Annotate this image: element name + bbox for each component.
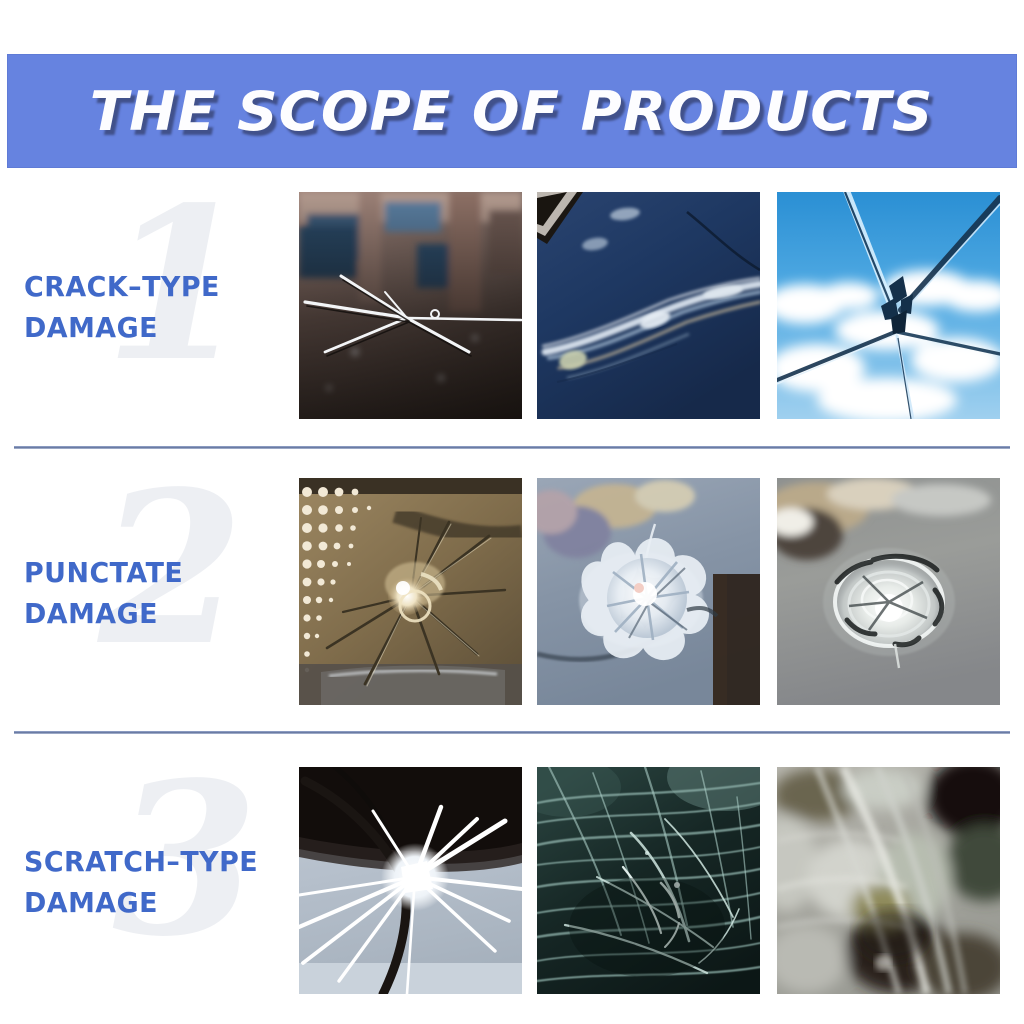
section-divider-2 — [14, 731, 1010, 734]
photo-grid-row-1 — [299, 192, 1019, 424]
section-label-line-1: SCRATCH–TYPE — [24, 842, 283, 883]
photo-tile-crack-long-line[interactable] — [537, 192, 760, 419]
section-label-line-1: CRACK–TYPE — [24, 267, 283, 308]
scratch-blur-illustration — [777, 767, 1000, 994]
section-label-line-2: DAMAGE — [24, 594, 283, 635]
punctate-star-brown-illustration — [299, 478, 522, 705]
section-label-line-2: DAMAGE — [24, 883, 283, 924]
scratch-star-illustration — [299, 767, 522, 994]
photo-tile-punctate-rosette[interactable] — [537, 478, 760, 705]
photo-grid-row-2 — [299, 478, 1019, 710]
photo-tile-punctate-star-brown[interactable] — [299, 478, 522, 705]
photo-tile-scratch-star[interactable] — [299, 767, 522, 994]
crack-sky-illustration — [777, 192, 1000, 419]
photo-tile-punctate-bullseye[interactable] — [777, 478, 1000, 705]
crack-long-line-illustration — [537, 192, 760, 419]
header-banner: THE SCOPE OF PRODUCTS — [8, 55, 1016, 167]
page-title: THE SCOPE OF PRODUCTS — [90, 80, 934, 143]
section-row-punctate: 2 PUNCTATE DAMAGE — [0, 478, 1024, 710]
photo-tile-crack-building[interactable] — [299, 192, 522, 419]
photo-tile-crack-sky[interactable] — [777, 192, 1000, 419]
punctate-rosette-illustration — [537, 478, 760, 705]
section-row-scratch-type: 3 SCRATCH–TYPE DAMAGE — [0, 767, 1024, 999]
section-label-line-1: PUNCTATE — [24, 553, 283, 594]
scratch-dense-teal-illustration — [537, 767, 760, 994]
punctate-bullseye-illustration — [777, 478, 1000, 705]
section-row-crack-type: 1 CRACK–TYPE DAMAGE — [0, 192, 1024, 424]
photo-tile-scratch-dense-teal[interactable] — [537, 767, 760, 994]
section-label-line-2: DAMAGE — [24, 308, 283, 349]
photo-grid-row-3 — [299, 767, 1019, 999]
crack-building-illustration — [299, 192, 522, 419]
photo-tile-scratch-blur[interactable] — [777, 767, 1000, 994]
